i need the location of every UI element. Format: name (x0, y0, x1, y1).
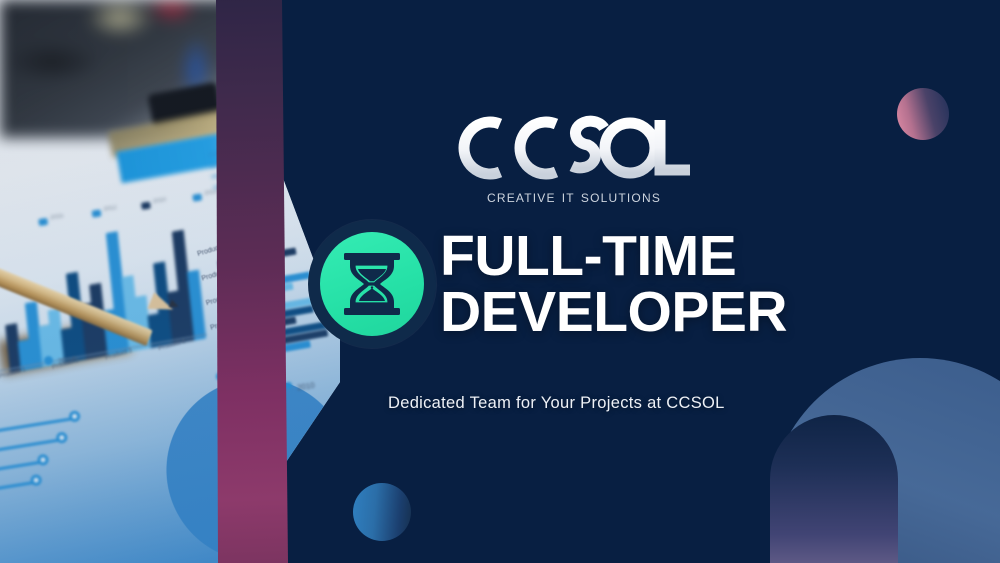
report-photo: 2015 2012 2010 2013 Product 1 Product 2 … (0, 0, 340, 563)
capsule-shape-top-right-icon (802, 0, 886, 84)
circle-shape-blue-icon (353, 483, 411, 541)
badge-circle (320, 232, 424, 336)
brand-logo: Creative IT Solutions (452, 112, 692, 208)
promo-banner: 2015 2012 2010 2013 Product 1 Product 2 … (0, 0, 1000, 563)
hourglass-badge (308, 220, 436, 348)
photo-color-tint (0, 0, 340, 563)
headline-line-2: DEVELOPER (440, 284, 860, 340)
circle-shape-pink-icon (897, 88, 949, 140)
logo-tagline: Creative IT Solutions (458, 186, 690, 207)
circle-shape-corner-icon (770, 358, 1000, 563)
headline-line-1: FULL-TIME (440, 228, 860, 284)
ccsol-logo-icon (452, 112, 692, 184)
capsule-shape-bottom-right-icon (770, 415, 898, 563)
photo-panel: 2015 2012 2010 2013 Product 1 Product 2 … (0, 0, 340, 563)
subtitle: Dedicated Team for Your Projects at CCSO… (388, 394, 818, 413)
page-title: FULL-TIME DEVELOPER (440, 228, 860, 341)
hourglass-icon (342, 252, 402, 316)
